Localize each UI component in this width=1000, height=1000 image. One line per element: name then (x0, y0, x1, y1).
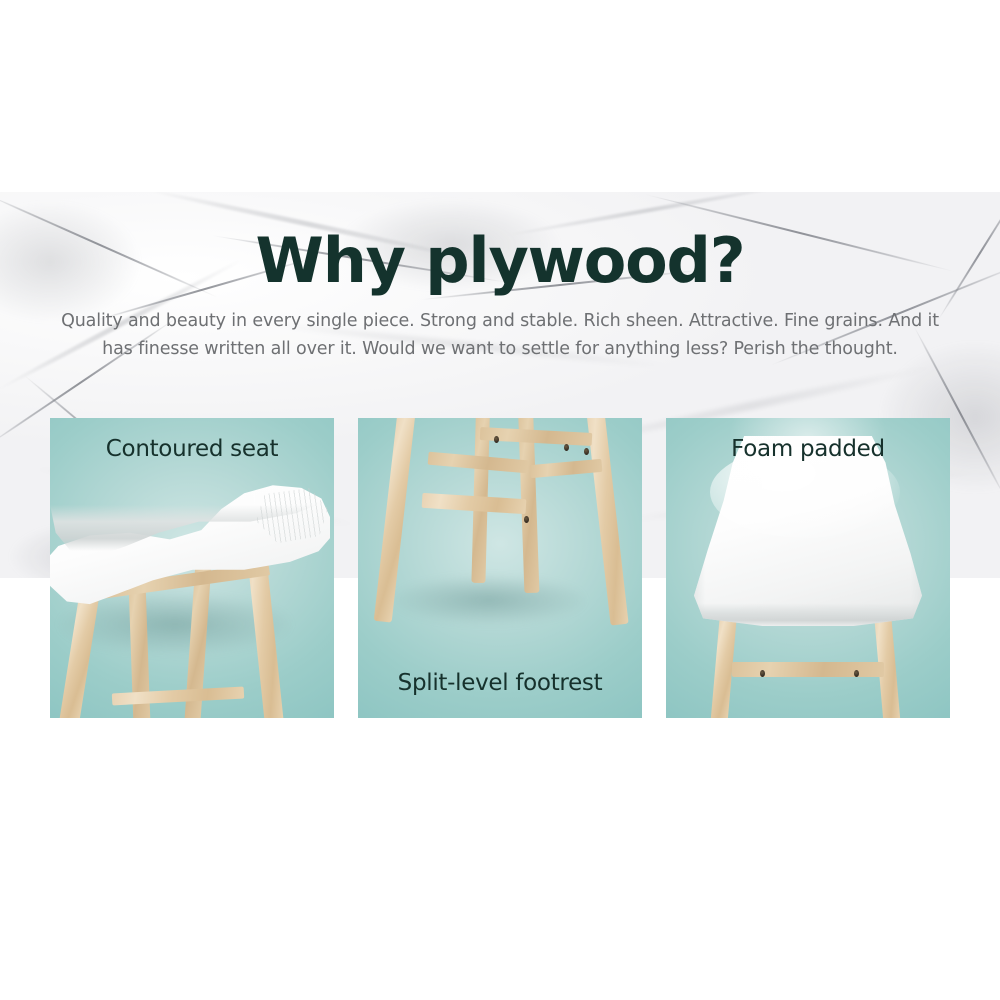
header-block: Why plywood? Quality and beauty in every… (0, 228, 1000, 364)
subtitle-line-2: has finesse written all over it. Would w… (0, 335, 1000, 363)
stool-crossbar (732, 662, 884, 677)
feature-card-row: Contoured seat Split-level footrest Foam… (50, 418, 950, 718)
card-label-contoured-seat: Contoured seat (50, 436, 334, 462)
stool-leg-front-right (586, 418, 629, 626)
screw-icon (760, 670, 765, 677)
footrest-bar-mid-right (530, 459, 603, 478)
screw-icon (584, 448, 589, 455)
feature-card-foam-padded[interactable]: Foam padded (666, 418, 950, 718)
screw-icon (494, 436, 499, 443)
screw-icon (524, 516, 529, 523)
footrest-bar-lower-front (422, 493, 527, 514)
card-label-split-level-footrest: Split-level footrest (358, 670, 642, 696)
product-shadow (394, 576, 584, 624)
subtitle-line-1: Quality and beauty in every single piece… (0, 307, 1000, 335)
page-title: Why plywood? (0, 228, 1000, 293)
screw-icon (854, 670, 859, 677)
page-subtitle: Quality and beauty in every single piece… (0, 307, 1000, 364)
feature-card-contoured-seat[interactable]: Contoured seat (50, 418, 334, 718)
card-label-foam-padded: Foam padded (666, 436, 950, 462)
feature-card-split-level-footrest[interactable]: Split-level footrest (358, 418, 642, 718)
screw-icon (564, 444, 569, 451)
